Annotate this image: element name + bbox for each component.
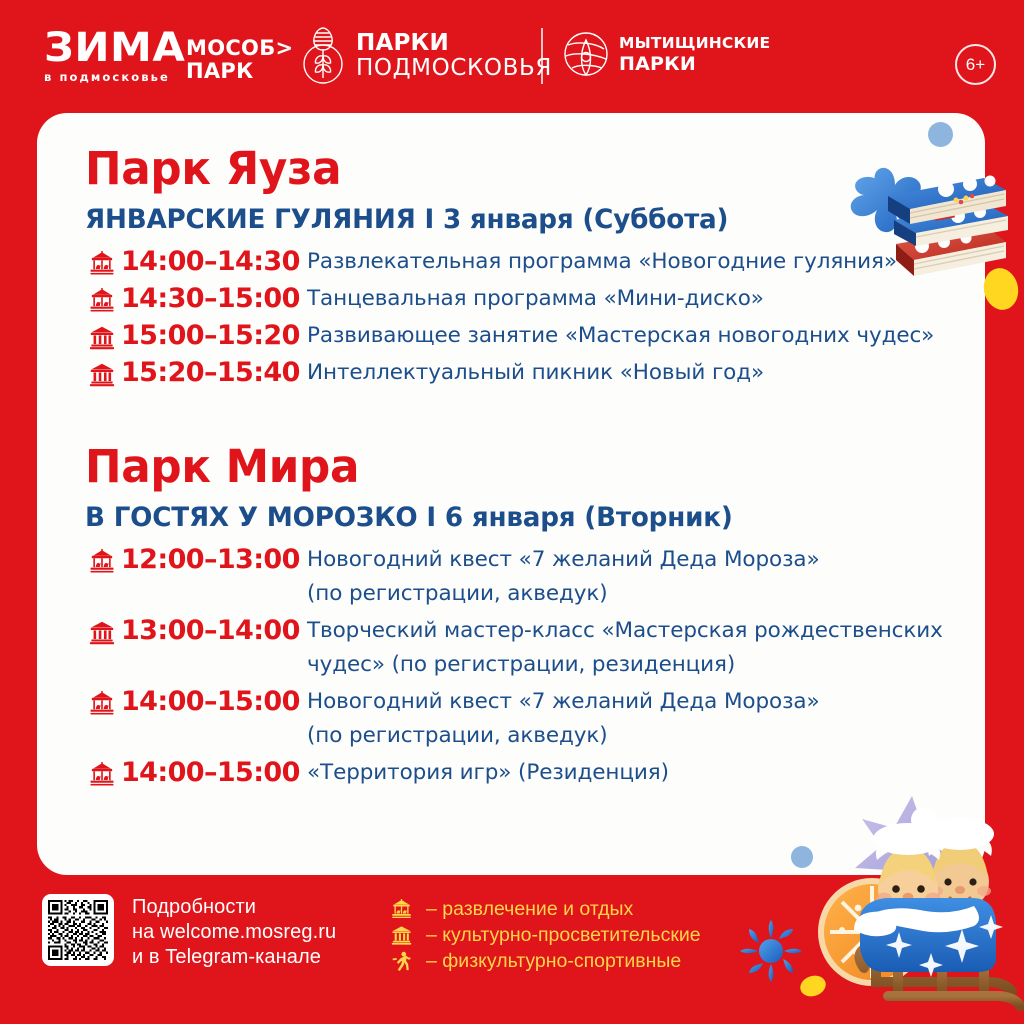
logo-mosobpark-line1: МОСОБ> — [186, 37, 293, 60]
event-row: 13:00–14:00Творческий мастер-класс «Маст… — [85, 614, 955, 682]
event-time: 15:00–15:20 — [121, 319, 303, 353]
carousel-icon — [386, 899, 416, 921]
event-description: Интеллектуальный пикник «Новый год» — [303, 356, 955, 390]
logo-parki-line1: ПАРКИ — [356, 31, 552, 56]
event-row: 12:00–13:00Новогодний квест «7 желаний Д… — [85, 543, 955, 611]
event-time: 13:00–14:00 — [121, 614, 303, 648]
schedule-card-content: Парк ЯузаЯНВАРСКИЕ ГУЛЯНИЯ I 3 января (С… — [37, 113, 985, 875]
event-list: 12:00–13:00Новогодний квест «7 желаний Д… — [85, 543, 955, 790]
legend-row: – развлечение и отдых — [386, 897, 701, 922]
logo-zima-word: ЗИМА — [44, 28, 185, 68]
museum-icon — [386, 925, 416, 947]
footer-details-text: Подробности на welcome.mosreg.ru и в Tel… — [132, 895, 336, 970]
event-description-line1: «Территория игр» (Резиденция) — [307, 756, 955, 790]
event-subtitle: В ГОСТЯХ У МОРОЗКО I 6 января (Вторник) — [85, 501, 929, 535]
event-row: 14:00–15:00«Территория игр» (Резиденция) — [85, 756, 955, 790]
event-description-line1: Новогодний квест «7 желаний Деда Мороза» — [307, 685, 955, 719]
event-description: Новогодний квест «7 желаний Деда Мороза»… — [303, 685, 955, 753]
page-header: ЗИМА в подмосковье МОСОБ> ПАРК ПАРКИ ПОД… — [0, 0, 1024, 113]
logo-mytishi-text: МЫТИЩИНСКИЕ ПАРКИ — [619, 33, 770, 75]
legend-label: – культурно-просветительские — [426, 923, 701, 948]
logo-parki-podmoskovya: ПАРКИ ПОДМОСКОВЬЯ — [300, 26, 552, 86]
park-title: Парк Мира — [85, 439, 929, 495]
event-time: 14:00–14:30 — [121, 245, 303, 279]
pinecone-leaf-icon — [300, 26, 346, 86]
event-list: 14:00–14:30Развлекательная программа «Но… — [85, 245, 955, 390]
event-description: «Территория игр» (Резиденция) — [303, 756, 955, 790]
event-description-line1: Танцевальная программа «Мини-диско» — [307, 282, 955, 316]
page-footer: Подробности на welcome.mosreg.ru и в Tel… — [0, 875, 1024, 1024]
carousel-icon — [85, 689, 119, 719]
event-subtitle: ЯНВАРСКИЕ ГУЛЯНИЯ I 3 января (Суббота) — [85, 203, 929, 237]
carousel-icon — [85, 249, 119, 279]
legend-row: – культурно-просветительские — [386, 923, 701, 948]
park-section: Парк ЯузаЯНВАРСКИЕ ГУЛЯНИЯ I 3 января (С… — [85, 141, 955, 390]
event-time: 14:30–15:00 — [121, 282, 303, 316]
event-time: 14:00–15:00 — [121, 685, 303, 719]
event-description-line2: чудес» (по регистрации, резиденция) — [307, 648, 955, 682]
logo-mytishi-line1: МЫТИЩИНСКИЕ — [619, 33, 770, 54]
event-row: 14:30–15:00Танцевальная программа «Мини-… — [85, 282, 955, 316]
logo-mosobpark-line2: ПАРК — [186, 60, 293, 83]
carousel-icon — [85, 760, 119, 790]
footer-info-line1: Подробности — [132, 895, 336, 920]
museum-icon — [85, 360, 119, 390]
legend-label: – развлечение и отдых — [426, 897, 633, 922]
runner-icon — [386, 951, 416, 973]
event-description: Танцевальная программа «Мини-диско» — [303, 282, 955, 316]
event-description-line2: (по регистрации, акведук) — [307, 719, 955, 753]
section-spacer — [85, 393, 955, 439]
event-time: 14:00–15:00 — [121, 756, 303, 790]
event-description-line1: Творческий мастер-класс «Мастерская рожд… — [307, 614, 955, 648]
footer-info-line3: и в Telegram-канале — [132, 945, 336, 970]
globe-tree-icon — [562, 30, 610, 78]
event-description-line1: Развивающее занятие «Мастерская новогодн… — [307, 319, 955, 353]
schedule-card: Парк ЯузаЯНВАРСКИЕ ГУЛЯНИЯ I 3 января (С… — [37, 113, 985, 875]
decor-yellow-oval — [980, 265, 1022, 313]
footer-info-line2: на welcome.mosreg.ru — [132, 920, 336, 945]
event-row: 15:00–15:20Развивающее занятие «Мастерск… — [85, 319, 955, 353]
header-divider — [541, 28, 543, 84]
event-description: Развлекательная программа «Новогодние гу… — [303, 245, 955, 279]
event-row: 14:00–14:30Развлекательная программа «Но… — [85, 245, 955, 279]
logo-mytishi-line2: ПАРКИ — [619, 54, 770, 75]
sections-container: Парк ЯузаЯНВАРСКИЕ ГУЛЯНИЯ I 3 января (С… — [85, 141, 955, 790]
event-time: 15:20–15:40 — [121, 356, 303, 390]
logo-mytishinskie-parki: МЫТИЩИНСКИЕ ПАРКИ — [562, 30, 770, 78]
logo-parki-line2: ПОДМОСКОВЬЯ — [356, 56, 552, 81]
carousel-icon — [85, 547, 119, 577]
logo-zima: ЗИМА в подмосковье — [44, 28, 179, 84]
legend-row: – физкультурно-спортивные — [386, 949, 701, 974]
event-description-line1: Новогодний квест «7 желаний Деда Мороза» — [307, 543, 955, 577]
age-rating-badge: 6+ — [955, 44, 996, 85]
event-time: 12:00–13:00 — [121, 543, 303, 577]
event-description-line2: (по регистрации, акведук) — [307, 577, 955, 611]
event-description-line1: Интеллектуальный пикник «Новый год» — [307, 356, 955, 390]
park-title: Парк Яуза — [85, 141, 929, 197]
event-description: Творческий мастер-класс «Мастерская рожд… — [303, 614, 955, 682]
park-section: Парк МираВ ГОСТЯХ У МОРОЗКО I 6 января (… — [85, 439, 955, 790]
event-description: Развивающее занятие «Мастерская новогодн… — [303, 319, 955, 353]
event-row: 15:20–15:40Интеллектуальный пикник «Новы… — [85, 356, 955, 390]
museum-icon — [85, 618, 119, 648]
event-row: 14:00–15:00Новогодний квест «7 желаний Д… — [85, 685, 955, 753]
museum-icon — [85, 323, 119, 353]
logo-parki-text: ПАРКИ ПОДМОСКОВЬЯ — [356, 31, 552, 81]
logo-mosobpark: МОСОБ> ПАРК — [186, 37, 293, 83]
carousel-icon — [85, 286, 119, 316]
logo-zima-subtitle: в подмосковье — [44, 70, 179, 84]
legend-label: – физкультурно-спортивные — [426, 949, 681, 974]
qr-code[interactable] — [42, 894, 114, 966]
event-description-line1: Развлекательная программа «Новогодние гу… — [307, 245, 955, 279]
category-legend: – развлечение и отдых– культурно-просвет… — [386, 897, 701, 975]
event-description: Новогодний квест «7 желаний Деда Мороза»… — [303, 543, 955, 611]
